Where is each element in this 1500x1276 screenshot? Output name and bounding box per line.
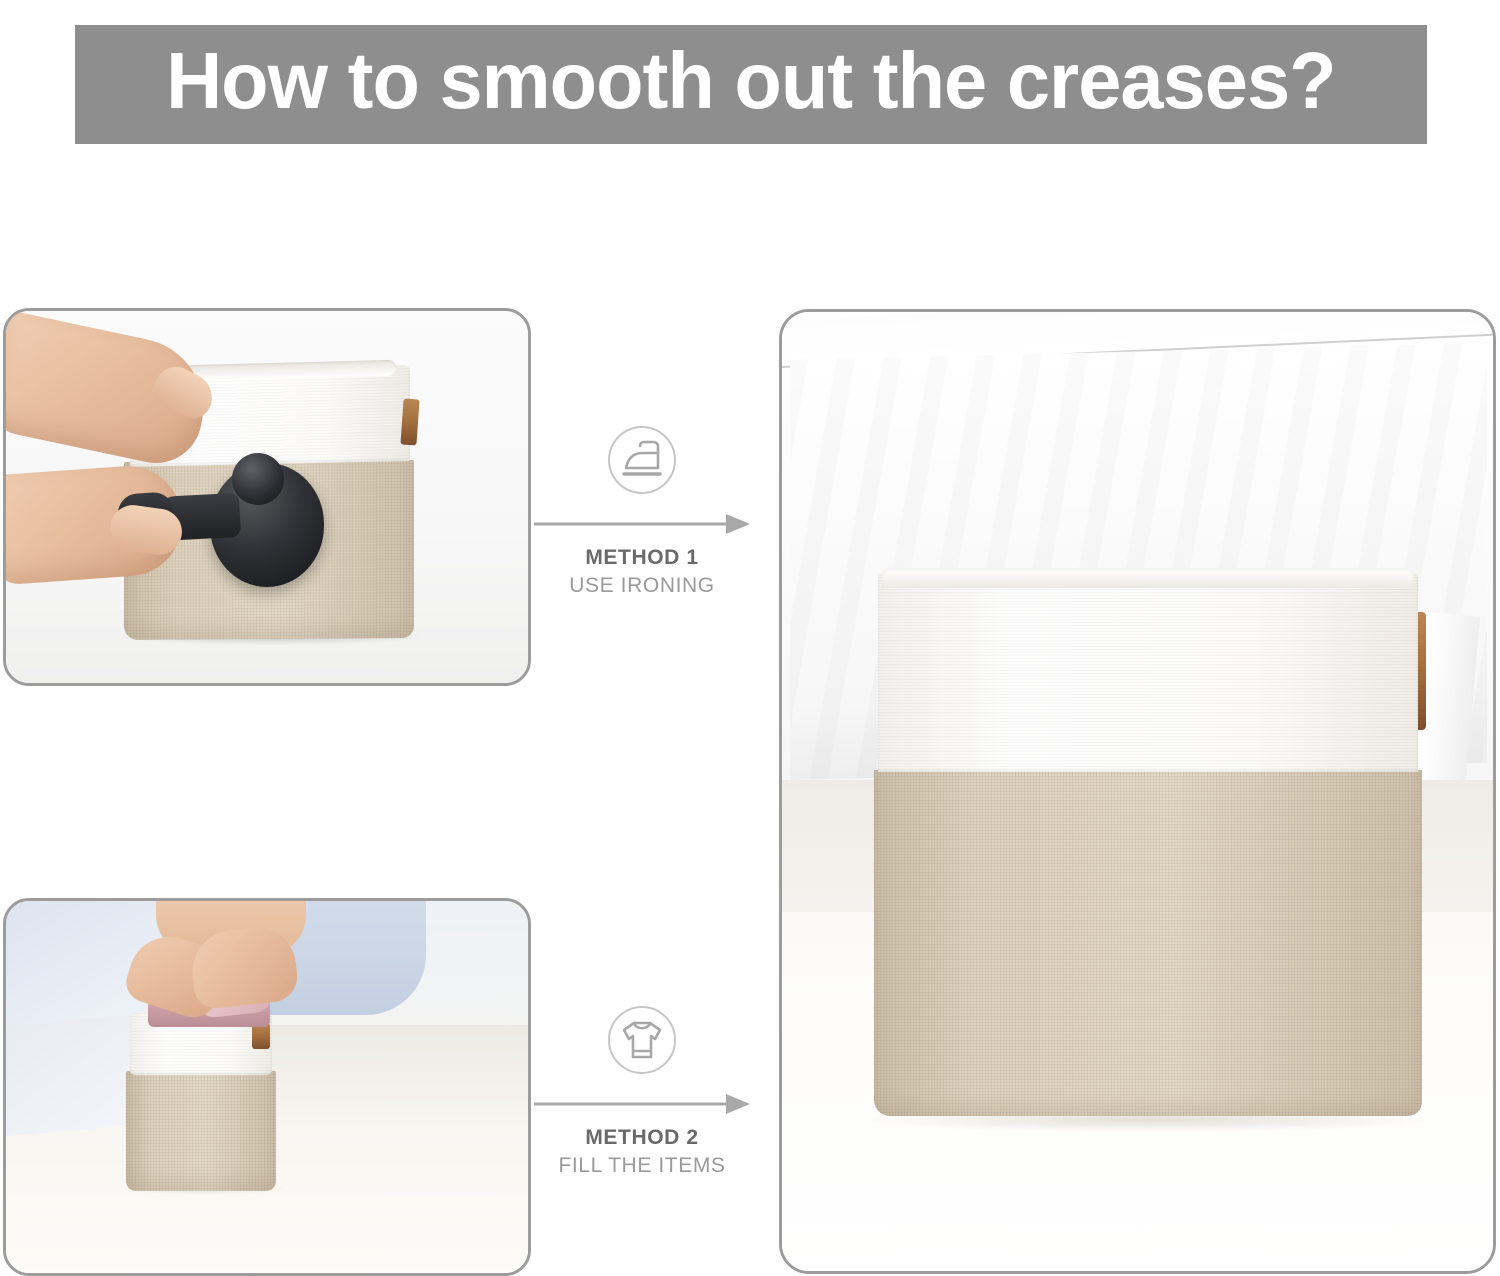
method-2-subtitle: FILL THE ITEMS — [522, 1154, 762, 1178]
ironing-scene — [6, 311, 528, 683]
leather-handle-right — [400, 398, 419, 445]
method-1-block: METHOD 1 USE IRONING — [522, 424, 762, 598]
ironing-photo-panel — [3, 308, 531, 686]
method-1-arrow — [534, 512, 750, 536]
fill-items-photo-panel — [3, 898, 531, 1276]
fill-items-scene — [6, 901, 528, 1273]
method-1-title: METHOD 1 — [522, 546, 762, 570]
method-1-subtitle: USE IRONING — [522, 574, 762, 598]
iron-icon — [606, 424, 678, 496]
tshirt-icon — [606, 1004, 678, 1076]
method-2-block: METHOD 2 FILL THE ITEMS — [522, 1004, 762, 1178]
method-2-arrow — [534, 1092, 750, 1116]
page-title: How to smooth out the creases? — [166, 41, 1336, 129]
result-scene — [782, 312, 1493, 1271]
basket-rim — [882, 568, 1414, 588]
basket-beige-body — [874, 770, 1422, 1116]
basket-beige-body — [126, 1071, 276, 1191]
result-photo-panel — [779, 309, 1496, 1274]
method-2-title: METHOD 2 — [522, 1126, 762, 1150]
basket-white-band — [878, 574, 1418, 772]
header-banner: How to smooth out the creases? — [75, 25, 1427, 144]
iron-top-cap — [232, 453, 284, 505]
